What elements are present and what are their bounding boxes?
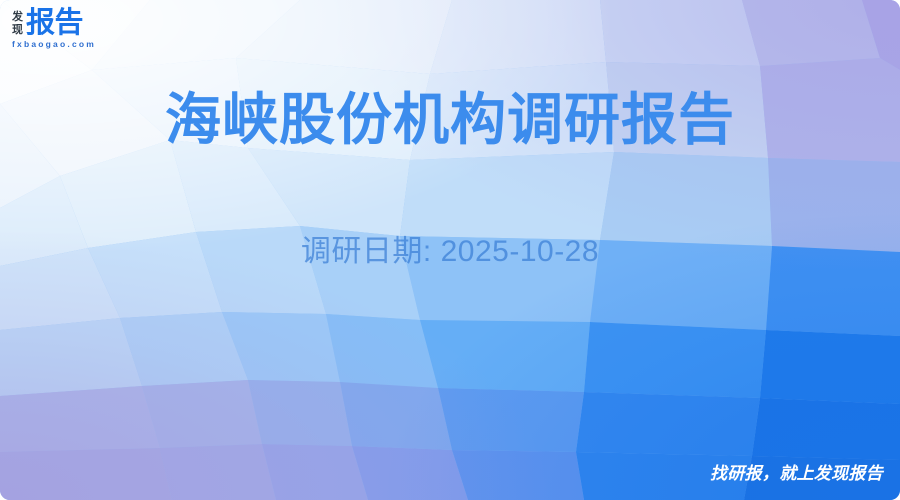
background-polygon [400,152,614,240]
background-polygon [760,330,900,404]
background-polygon [600,0,760,66]
fxbaogao-logo[interactable]: 发 现 报告 fxbaogao.com [12,8,96,50]
background-polygon [752,398,900,460]
background-polygon [248,380,352,446]
background-polygon [0,448,172,500]
logo-url: fxbaogao.com [12,39,96,50]
background-polygon [160,444,276,500]
background-polygon [352,446,468,500]
report-cover: 发 现 报告 fxbaogao.com 海峡股份机构调研报告 调研日期: 202… [0,0,900,500]
background-polygon [420,320,590,392]
background-polygon [142,380,262,448]
logo-char-fa: 发 [12,11,23,24]
background-polygon [0,386,160,452]
logo-wordmark-row: 发 现 报告 [12,8,96,38]
brand-tagline: 找研报，就上发现报告 [710,464,883,484]
background-polygon [452,450,584,500]
background-polygon [430,0,606,74]
logo-char-xian: 现 [12,24,23,37]
survey-date-subtitle: 调研日期: 2025-10-28 [0,232,900,272]
logo-stacked-characters: 发 现 [12,11,23,38]
background-polygon [576,392,760,456]
page-title: 海峡股份机构调研报告 [0,86,900,154]
background-polygon [326,314,438,388]
background-polygon [742,0,880,66]
logo-wordmark: 报告 [26,9,83,38]
background-polygon [262,444,368,500]
background-polygon [584,322,766,398]
background-polygon [340,382,452,450]
background-polygon [438,388,584,452]
background-polygon [0,318,142,396]
